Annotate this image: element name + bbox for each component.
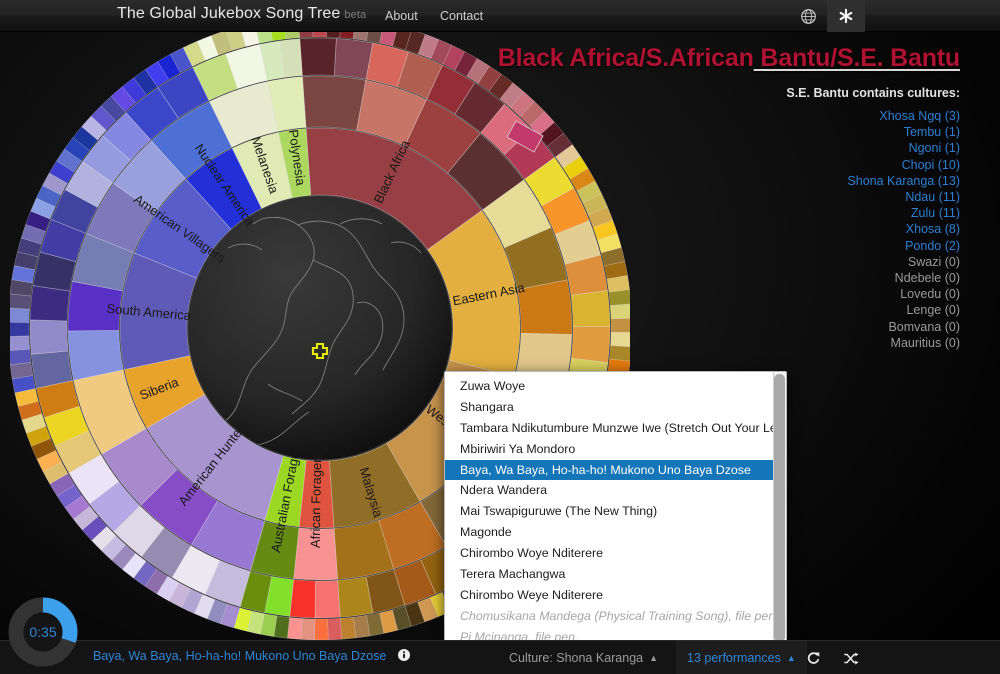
- culture-list-item[interactable]: Zulu (11): [730, 205, 960, 221]
- sunburst-segment[interactable]: [328, 618, 342, 640]
- song-list-item[interactable]: Tambara Ndikutumbure Munzwe Iwe (Stretch…: [445, 418, 775, 439]
- culture-list-item[interactable]: Ngoni (1): [730, 140, 960, 156]
- culture-list-item[interactable]: Chopi (10): [730, 157, 960, 173]
- sunburst-segment[interactable]: [302, 76, 366, 130]
- song-list-item[interactable]: Shangara: [445, 397, 775, 418]
- repeat-icon: [806, 651, 821, 666]
- sunburst-segment[interactable]: [290, 580, 316, 618]
- culture-list-item[interactable]: Xhosa (8): [730, 221, 960, 237]
- now-playing-title[interactable]: Baya, Wa Baya, Ho-ha-ho! Mukono Uno Baya…: [93, 649, 410, 664]
- info-icon[interactable]: [398, 649, 410, 664]
- sunburst-segment[interactable]: [571, 327, 610, 363]
- repeat-button[interactable]: [800, 641, 826, 674]
- sunburst-segment[interactable]: [10, 349, 31, 365]
- song-list-item[interactable]: Chirombo Woye Nditerere: [445, 543, 775, 564]
- sunburst-segment[interactable]: [340, 617, 356, 639]
- song-list-dropdown[interactable]: Zuwa WoyeShangaraTambara Ndikutumbure Mu…: [444, 371, 787, 644]
- shuffle-icon: [843, 651, 859, 666]
- app-brand-title: The Global Jukebox Song Treebeta: [117, 5, 366, 23]
- shuffle-button[interactable]: [838, 641, 864, 674]
- song-list-scrollbar-thumb[interactable]: [774, 374, 785, 642]
- song-list-item-selected[interactable]: Baya, Wa Baya, Ho-ha-ho! Mukono Uno Baya…: [445, 460, 775, 481]
- sunburst-segment[interactable]: [610, 332, 630, 347]
- star-icon: [837, 7, 855, 25]
- playback-time-label: 0:35: [8, 597, 78, 667]
- culture-list-item: Bomvana (0): [730, 319, 960, 335]
- sunburst-segment[interactable]: [30, 320, 68, 354]
- song-list-item[interactable]: Terera Machangwa: [445, 564, 775, 585]
- culture-list-item[interactable]: Shona Karanga (13): [730, 173, 960, 189]
- performances-label: 13 performances: [687, 651, 781, 665]
- song-list-item[interactable]: Chirombo Weye Nditerere: [445, 585, 775, 606]
- chevron-up-icon: ▲: [649, 653, 658, 663]
- cultures-list: Xhosa Ngq (3)Tembu (1)Ngoni (1)Chopi (10…: [730, 108, 960, 351]
- song-list-scroll-area[interactable]: Zuwa WoyeShangaraTambara Ndikutumbure Mu…: [445, 372, 775, 643]
- sunburst-segment[interactable]: [315, 580, 340, 618]
- sunburst-segment[interactable]: [609, 346, 630, 362]
- sunburst-segment[interactable]: [300, 38, 337, 76]
- nav-link-contact[interactable]: Contact: [440, 9, 483, 23]
- sunburst-region-label: African Foragers: [308, 451, 325, 548]
- info-icon-glyph: [398, 649, 410, 661]
- bottom-player-bar: Baya, Wa Baya, Ho-ha-ho! Mukono Uno Baya…: [0, 640, 1000, 674]
- sunburst-segment[interactable]: [517, 280, 572, 335]
- sunburst-segment[interactable]: [10, 294, 31, 310]
- playback-progress-dial[interactable]: 0:35: [8, 597, 78, 667]
- sunburst-segment[interactable]: [315, 619, 329, 640]
- song-list-scrollbar-track[interactable]: [773, 372, 786, 644]
- culture-list-item[interactable]: Ndau (11): [730, 189, 960, 205]
- culture-list-item: Lenge (0): [730, 302, 960, 318]
- nav-link-about[interactable]: About: [385, 9, 418, 23]
- sunburst-segment[interactable]: [338, 577, 373, 618]
- asterisk-icon-button[interactable]: [827, 0, 865, 32]
- song-list-item: Chomusikana Mandega (Physical Training S…: [445, 606, 775, 627]
- sunburst-segment[interactable]: [571, 291, 610, 327]
- globe-icon: [800, 8, 817, 25]
- page-title-underlined: Bantu/S.E. Bantu: [754, 44, 960, 72]
- globe-icon-button[interactable]: [789, 0, 827, 32]
- sunburst-segment[interactable]: [611, 318, 630, 332]
- chevron-up-icon-2: ▲: [787, 653, 796, 663]
- song-list-item[interactable]: Zuwa Woye: [445, 376, 775, 397]
- sunburst-segment[interactable]: [287, 617, 302, 639]
- song-list-item[interactable]: Mbiriwiri Ya Mondoro: [445, 439, 775, 460]
- culture-selector[interactable]: Culture: Shona Karanga ▲: [509, 641, 658, 674]
- song-list-item[interactable]: Ndera Wandera: [445, 480, 775, 501]
- sunburst-segment[interactable]: [301, 618, 315, 639]
- sunburst-segment[interactable]: [10, 308, 30, 323]
- culture-selector-label: Culture: Shona Karanga: [509, 651, 643, 665]
- culture-list-item: Ndebele (0): [730, 270, 960, 286]
- cultures-heading: S.E. Bantu contains cultures:: [786, 86, 960, 100]
- sunburst-segment[interactable]: [10, 322, 29, 336]
- performances-selector[interactable]: 13 performances ▲: [676, 641, 807, 674]
- song-list-item[interactable]: Magonde: [445, 522, 775, 543]
- top-header-bar: The Global Jukebox Song Treebeta About C…: [0, 0, 1000, 32]
- culture-list-item[interactable]: Pondo (2): [730, 238, 960, 254]
- sunburst-segment[interactable]: [609, 290, 630, 306]
- brand-text: The Global Jukebox Song Tree: [117, 5, 340, 22]
- culture-list-item: Swazi (0): [730, 254, 960, 270]
- culture-list-item: Lovedu (0): [730, 286, 960, 302]
- sunburst-segment[interactable]: [610, 304, 630, 319]
- culture-list-item[interactable]: Xhosa Ngq (3): [730, 108, 960, 124]
- culture-list-item: Mauritius (0): [730, 335, 960, 351]
- app-root: The Global Jukebox Song Treebeta About C…: [0, 0, 1000, 674]
- culture-list-item[interactable]: Tembu (1): [730, 124, 960, 140]
- now-playing-text: Baya, Wa Baya, Ho-ha-ho! Mukono Uno Baya…: [93, 649, 386, 663]
- sunburst-segment[interactable]: [10, 336, 30, 351]
- sunburst-segment[interactable]: [30, 286, 70, 321]
- song-list-item[interactable]: Mai Tswapiguruwe (The New Thing): [445, 501, 775, 522]
- beta-badge: beta: [344, 9, 366, 21]
